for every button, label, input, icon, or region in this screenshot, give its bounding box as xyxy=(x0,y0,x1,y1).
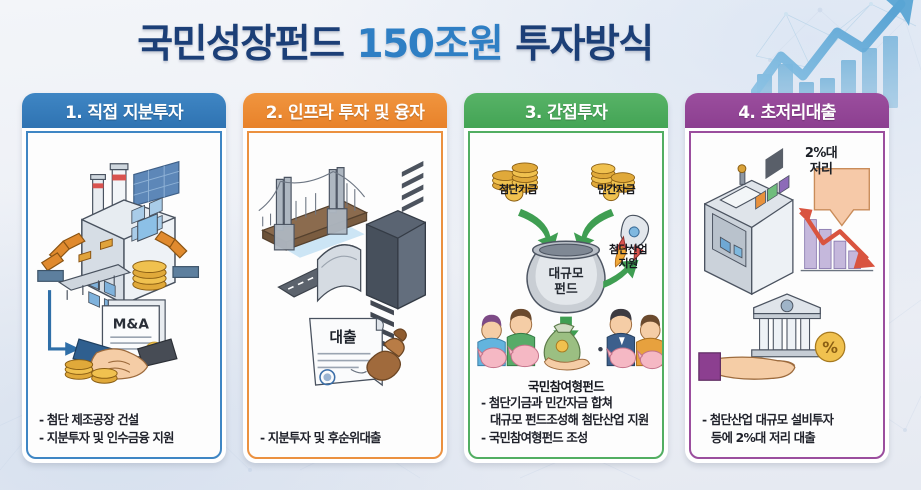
card-indirect-investment[interactable]: 3. 간접투자 xyxy=(464,93,668,463)
infographic-root: 국민성장펀드150조원투자방식 1. 직접 지분투자 xyxy=(0,0,921,490)
card-3-bullet-2: - 국민참여형펀드 조성 xyxy=(481,430,653,447)
card-3-bullet-1: 대규모 펀드조성해 첨단산업 지원 xyxy=(481,412,653,429)
public-participation-fund-label: 국민참여형펀드 xyxy=(470,380,662,394)
card-4-bullet-0: - 첨단산업 대규모 설비투자 xyxy=(702,412,874,429)
svg-text:펀드: 펀드 xyxy=(554,281,578,297)
advanced-fund-label: 첨단기금 xyxy=(482,184,554,197)
card-1-illustration: M&A xyxy=(28,133,220,408)
advanced-industry-support-label: 첨단산업지원 xyxy=(600,243,656,271)
low-rate-badge-line1: 2%대 xyxy=(797,147,845,162)
card-direct-equity-investment[interactable]: 1. 직접 지분투자 xyxy=(22,93,226,463)
title-part1: 국민성장펀드 xyxy=(137,22,343,67)
card-1-bullets: - 첨단 제조공장 건설 - 지분투자 및 인수금융 지원 xyxy=(28,408,220,457)
card-4-illustration: % 2%대 저리 xyxy=(691,133,883,408)
svg-text:대규모: 대규모 xyxy=(548,266,583,281)
card-4-bullet-1: 등에 2%대 저리 대출 xyxy=(702,430,874,447)
card-2-illustration: 대출 xyxy=(249,133,441,426)
loan-document-label: 대출 xyxy=(330,329,358,346)
card-1-bullet-1: - 지분투자 및 인수금융 지원 xyxy=(39,430,211,447)
card-3-illustration: 대규모 펀드 xyxy=(470,133,662,391)
card-3-bullets: - 첨단기금과 민간자금 합쳐 대규모 펀드조성해 첨단산업 지원 - 국민참여… xyxy=(470,391,662,457)
card-2-header: 2. 인프라 투자 및 융자 xyxy=(243,93,447,128)
card-2-bullets: - 지분투자 및 후순위대출 xyxy=(249,426,441,457)
card-1-bullet-0: - 첨단 제조공장 건설 xyxy=(39,412,211,429)
card-infrastructure-investment-and-loan[interactable]: 2. 인프라 투자 및 융자 xyxy=(243,93,447,463)
card-2-bullet-0: - 지분투자 및 후순위대출 xyxy=(260,430,432,447)
private-capital-label: 민간자금 xyxy=(580,184,652,197)
low-rate-badge-line2: 저리 xyxy=(797,163,845,178)
card-4-bullets: - 첨단산업 대규모 설비투자 등에 2%대 저리 대출 xyxy=(691,408,883,457)
card-1-header: 1. 직접 지분투자 xyxy=(22,93,226,128)
card-4-header: 4. 초저리대출 xyxy=(685,93,889,128)
card-3-header: 3. 간접투자 xyxy=(464,93,668,128)
page-title: 국민성장펀드150조원투자방식 xyxy=(0,8,790,74)
svg-text:M&A: M&A xyxy=(113,316,150,332)
title-amount: 150조원 xyxy=(357,22,503,67)
card-ultra-low-interest-loan[interactable]: 4. 초저리대출 xyxy=(685,93,889,463)
card-3-bullet-0: - 첨단기금과 민간자금 합쳐 xyxy=(481,395,653,412)
title-part2: 투자방식 xyxy=(515,22,653,67)
svg-text:%: % xyxy=(822,338,838,357)
